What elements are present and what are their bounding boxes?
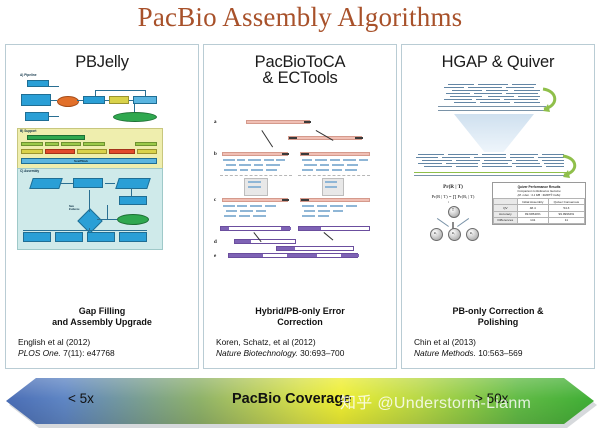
- table-row: Differences 141 11: [494, 217, 585, 223]
- pacbiotoca-figure: a b: [212, 86, 380, 261]
- panel-pbjelly-reference: English et al (2012) PLOS One. 7(11): e4…: [6, 330, 198, 368]
- fig2-panel-label-b: b: [214, 152, 217, 157]
- hgap-loop-arrow-bottom: [560, 154, 582, 178]
- panel-pbjelly-heading: PBJelly: [6, 45, 198, 70]
- panel-hgap-heading: HGAP & Quiver: [402, 45, 594, 70]
- panel-hgap-caption-line2: Polishing: [406, 317, 590, 328]
- panel-hgap-quiver[interactable]: HGAP & Quiver: [401, 44, 595, 369]
- panel-pacbiotoca-heading: PacBioToCA & ECTools: [204, 45, 396, 86]
- quiver-row-differences-label: Differences: [494, 217, 518, 223]
- flow-section-label-a: A) Pipeline: [20, 73, 36, 77]
- panel-hgap-heading-line1: HGAP & Quiver: [442, 53, 555, 71]
- fig2-panel-label-e: e: [214, 254, 216, 259]
- hgap-quiver-figure: Pr(R | T) Pr(R | T) = ∏ Pr(Rᵢ | T) i T R…: [408, 72, 586, 244]
- hgap-loop-arrow-top: [540, 86, 562, 112]
- panel-pbjelly-caption: Gap Filling and Assembly Upgrade: [6, 306, 198, 330]
- quiver-performance-table: Quiver Performance Results Comparison to…: [492, 182, 586, 225]
- quiver-tree-leaf-1-label: R₁: [430, 231, 441, 235]
- panel-hgap-ref-locator: 10:563–569: [476, 348, 523, 358]
- fig2-panel-label-c: c: [214, 198, 216, 203]
- flow-section-label-b: B) Support: [20, 129, 36, 133]
- panel-pacbiotoca-reference: Koren, Schatz, et al (2012) Nature Biote…: [204, 330, 396, 368]
- panel-hgap-ref-journal: Nature Methods.: [414, 348, 476, 358]
- panel-pbjelly-caption-line1: Gap Filling: [10, 306, 194, 317]
- slide-root: PacBio Assembly Algorithms PBJelly A) Pi…: [0, 0, 600, 430]
- panel-pbjelly-figure: A) Pipeline: [6, 70, 198, 306]
- flow-section-label-c: C) Assembly: [20, 169, 39, 173]
- quiver-row-differences-quiver: 11: [548, 217, 584, 223]
- fig2-panel-label-d: d: [214, 240, 217, 245]
- hgap-read-pileup-top: [444, 84, 544, 112]
- quiver-tree-leaf-3-label: R₃: [466, 231, 477, 235]
- panel-pacbiotoca-heading-line2: & ECTools: [204, 70, 396, 86]
- panel-pbjelly[interactable]: PBJelly A) Pipeline: [5, 44, 199, 369]
- quiver-row-differences-initial: 141: [517, 217, 548, 223]
- panel-hgap-figure: Pr(R | T) Pr(R | T) = ∏ Pr(Rᵢ | T) i T R…: [402, 70, 594, 306]
- quiver-formula-title: Pr(R | T): [422, 184, 484, 190]
- panel-hgap-caption: PB-only Correction & Polishing: [402, 306, 594, 330]
- panel-hgap-caption-line1: PB-only Correction &: [406, 306, 590, 317]
- panel-pacbiotoca-caption: Hybrid/PB-only Error Correction: [204, 306, 396, 330]
- panel-row: PBJelly A) Pipeline: [5, 44, 595, 369]
- panel-pacbiotoca-ref-authors: Koren, Schatz, et al (2012): [216, 337, 396, 348]
- panel-pacbiotoca-ref-locator: 30:693–700: [298, 348, 345, 358]
- coverage-low-label: < 5x: [68, 391, 94, 406]
- panel-pbjelly-ref-locator: 7(11): e47768: [61, 348, 115, 358]
- panel-pacbiotoca-ref-journal: Nature Biotechnology.: [216, 348, 298, 358]
- hgap-read-pileup-bottom: [416, 154, 566, 172]
- panel-pbjelly-ref-journal: PLOS One.: [18, 348, 61, 358]
- flow-band-label: ScaffStub: [74, 159, 88, 163]
- fig2-panel-label-a: a: [214, 120, 217, 125]
- panel-pacbiotoca-caption-line1: Hybrid/PB-only Error: [208, 306, 392, 317]
- panel-pbjelly-caption-line2: and Assembly Upgrade: [10, 317, 194, 328]
- quiver-formula-index: i: [448, 200, 449, 204]
- panel-hgap-ref-authors: Chin et al (2013): [414, 337, 594, 348]
- quiver-tree-leaf-2-label: R₂: [448, 231, 459, 235]
- quiver-table-subtitle2: (M. ruber : 3.1 MB : SMRT® Cells): [496, 193, 583, 197]
- panel-pbjelly-ref-authors: English et al (2012): [18, 337, 198, 348]
- panel-pacbiotoca-caption-line2: Correction: [208, 317, 392, 328]
- quiver-table-title: Quiver Performance Results: [518, 185, 561, 189]
- pbjelly-flowchart: A) Pipeline: [17, 72, 161, 248]
- panel-pbjelly-heading-line1: PBJelly: [75, 53, 129, 71]
- quiver-tree-root-label: T: [448, 208, 458, 212]
- page-title: PacBio Assembly Algorithms: [0, 2, 600, 33]
- panel-pacbiotoca[interactable]: PacBioToCA & ECTools a: [203, 44, 397, 369]
- watermark: 知乎 @Understorm-Lianm: [340, 389, 531, 413]
- coverage-mid-label: PacBio Coverage: [232, 391, 351, 407]
- panel-hgap-reference: Chin et al (2013) Nature Methods. 10:563…: [402, 330, 594, 368]
- quiver-formula-body: Pr(R | T) = ∏ Pr(Rᵢ | T): [414, 194, 492, 199]
- panel-pacbiotoca-figure: a b: [204, 86, 396, 306]
- hgap-funnel: [454, 114, 534, 152]
